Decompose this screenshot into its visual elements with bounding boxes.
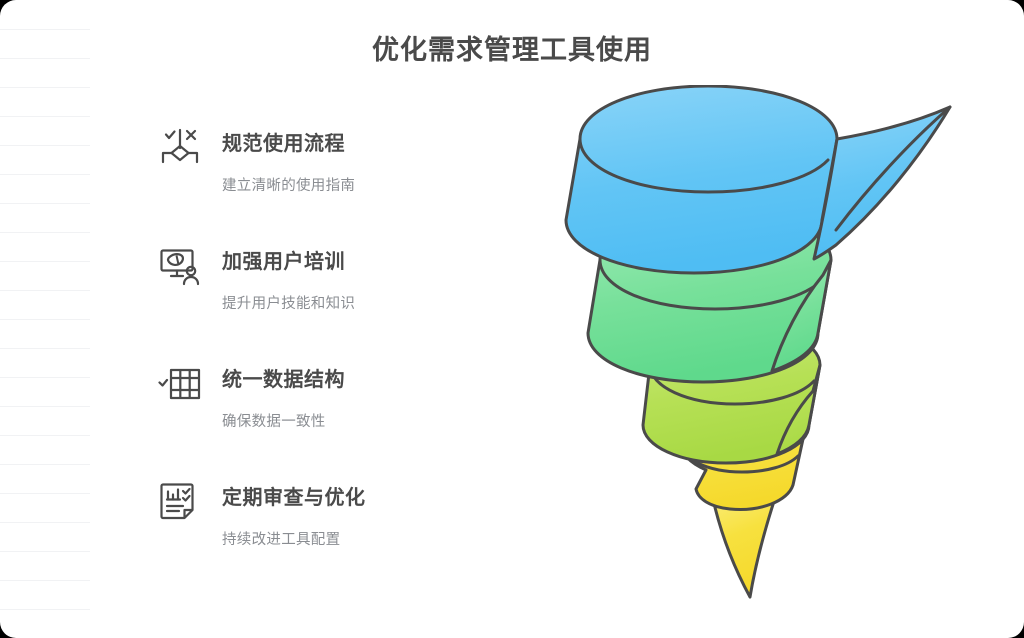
feature-desc: 建立清晰的使用指南 [222,174,492,195]
feature-text-2: 加强用户培训 提升用户技能和知识 [222,240,492,313]
feature-item-4[interactable]: 定期审查与优化 持续改进工具配置 [158,476,488,594]
rule-line [0,464,90,465]
feature-title: 规范使用流程 [222,122,492,166]
feature-title: 统一数据结构 [222,358,492,402]
rule-line [0,116,90,117]
rule-line [0,435,90,436]
rule-line [0,377,90,378]
training-presentation-icon [158,244,202,288]
rule-line [0,319,90,320]
feature-title: 加强用户培训 [222,240,492,284]
feature-list: 规范使用流程 建立清晰的使用指南 加强用户培训 提升用户技能和知识 [158,122,488,594]
rule-line [0,580,90,581]
rule-line [0,609,90,610]
slide-card: 优化需求管理工具使用 规范使用流程 建立清晰的使用指南 [0,0,1024,638]
rule-line [0,551,90,552]
feature-desc: 确保数据一致性 [222,410,492,431]
feature-desc: 持续改进工具配置 [222,528,492,549]
rule-line [0,348,90,349]
ruled-lines-decoration [0,0,90,638]
data-table-check-icon [158,362,202,406]
report-checklist-icon [158,480,202,524]
rule-line [0,290,90,291]
rule-line [0,174,90,175]
page-title: 优化需求管理工具使用 [0,28,1024,67]
rule-line [0,203,90,204]
feature-title: 定期审查与优化 [222,476,492,520]
rule-line [0,232,90,233]
rule-line [0,145,90,146]
spiral-funnel-chart [560,85,990,605]
decision-flow-icon [158,126,202,170]
rule-line [0,261,90,262]
rule-line [0,522,90,523]
feature-desc: 提升用户技能和知识 [222,292,492,313]
rule-line [0,406,90,407]
feature-text-4: 定期审查与优化 持续改进工具配置 [222,476,492,549]
rule-line [0,87,90,88]
feature-item-1[interactable]: 规范使用流程 建立清晰的使用指南 [158,122,488,240]
feature-text-1: 规范使用流程 建立清晰的使用指南 [222,122,492,195]
feature-text-3: 统一数据结构 确保数据一致性 [222,358,492,431]
rule-line [0,493,90,494]
feature-item-2[interactable]: 加强用户培训 提升用户技能和知识 [158,240,488,358]
feature-item-3[interactable]: 统一数据结构 确保数据一致性 [158,358,488,476]
